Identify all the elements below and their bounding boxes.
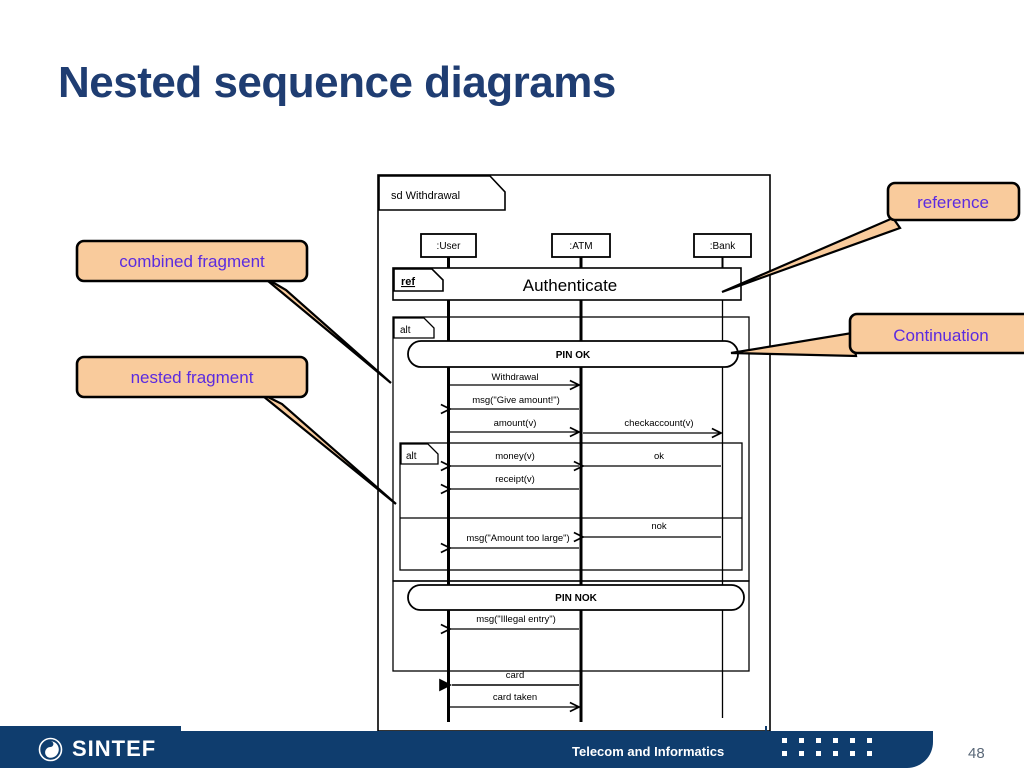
- ref-operator-label: ref: [401, 276, 415, 288]
- footer-department: Telecom and Informatics: [572, 744, 724, 759]
- message-label-m12: card taken: [493, 692, 537, 703]
- callout-tail-nested-fragment: [258, 392, 396, 504]
- sintef-swirl-icon: [38, 737, 63, 762]
- lifeline-label-atm: :ATM: [569, 241, 592, 252]
- continuation-pin-nok-label: PIN NOK: [555, 593, 597, 604]
- callout-label-continuation: Continuation: [893, 326, 988, 345]
- footer-dot-grid: [782, 738, 884, 764]
- slide-canvas: Nested sequence diagrams sd Withdrawal: [0, 0, 1024, 768]
- message-label-m10: msg("Illegal entry"): [476, 614, 556, 625]
- message-label-m5: money(v): [495, 451, 535, 462]
- message-label-m7: receipt(v): [495, 474, 535, 485]
- message-label-m6: ok: [654, 451, 664, 462]
- alt-operator-label-inner: alt: [406, 451, 417, 462]
- frame-label: sd Withdrawal: [391, 190, 460, 202]
- message-label-m1: Withdrawal: [492, 372, 539, 383]
- page-number: 48: [968, 745, 985, 762]
- message-label-m2: msg("Give amount!"): [472, 395, 560, 406]
- lifeline-label-user: :User: [437, 241, 462, 252]
- message-label-m9: msg("Amount too large"): [466, 533, 569, 544]
- interaction-use-label: Authenticate: [523, 276, 618, 295]
- sintef-logo: SINTEF: [38, 736, 156, 762]
- sequence-diagram: sd Withdrawal :User :ATM :Bank ref Authe…: [0, 0, 1024, 768]
- sintef-wordmark: SINTEF: [72, 736, 156, 762]
- callout-label-reference: reference: [917, 193, 989, 212]
- callout-label-nested-fragment: nested fragment: [131, 368, 254, 387]
- alt-operator-label-outer: alt: [400, 325, 411, 336]
- message-label-m4: checkaccount(v): [624, 418, 693, 429]
- message-label-m11: card: [506, 670, 524, 681]
- lifeline-label-bank: :Bank: [710, 241, 737, 252]
- message-label-m3: amount(v): [494, 418, 537, 429]
- message-label-m8: nok: [651, 521, 667, 532]
- continuation-pin-ok-label: PIN OK: [556, 350, 591, 361]
- callout-label-combined-fragment: combined fragment: [119, 252, 265, 271]
